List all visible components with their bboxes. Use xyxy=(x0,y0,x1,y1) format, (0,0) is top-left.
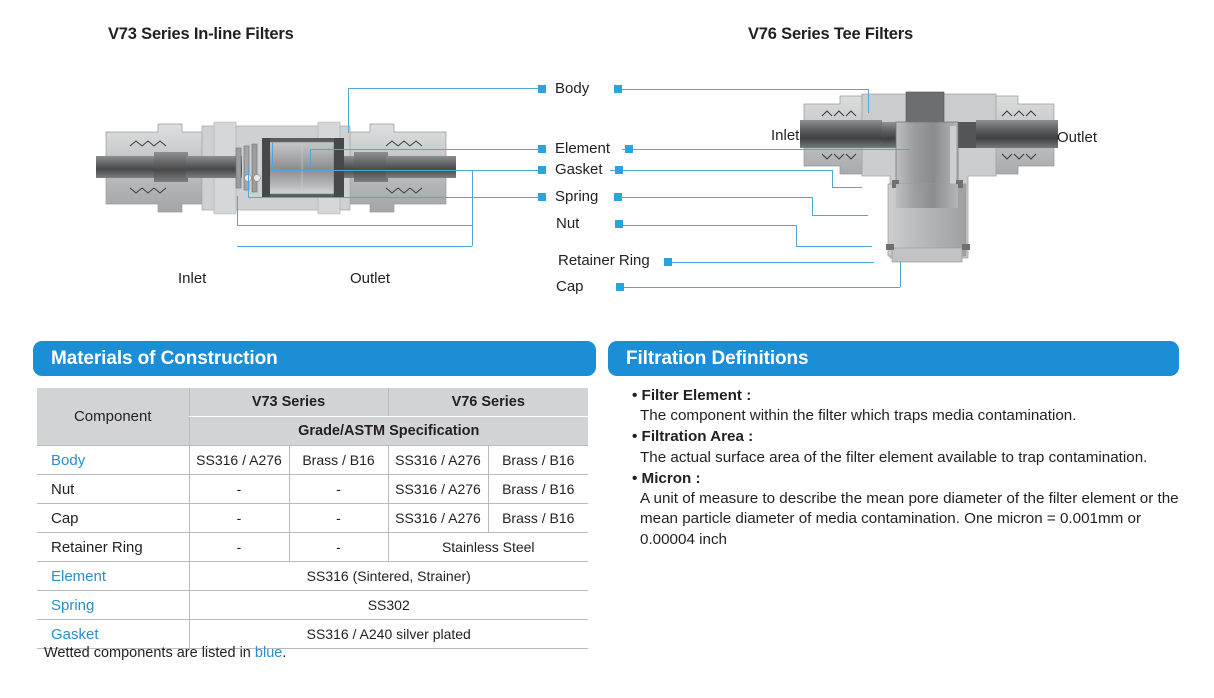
callout-bullet-right-nut-icon xyxy=(615,220,623,228)
row-component-body: Body xyxy=(37,446,189,475)
leader-line-spring-left xyxy=(248,197,538,198)
materials-of-construction-table: Component V73 Series V76 Series Grade/AS… xyxy=(37,388,588,649)
leader-line-cap-right-drop xyxy=(900,262,901,287)
callout-gasket: Gasket xyxy=(538,161,603,179)
leader-line-body-left-drop xyxy=(348,88,349,133)
cell-v76-brass: Brass / B16 xyxy=(488,504,588,533)
cell-all-span: SS316 (Sintered, Strainer) xyxy=(189,562,588,591)
footnote-blue-word: blue xyxy=(255,645,282,661)
row-component-retainer-ring: Retainer Ring xyxy=(37,533,189,562)
callout-spring: Spring xyxy=(538,188,598,206)
leader-line-nut-right-drop xyxy=(796,225,797,246)
leader-line-gasket-right xyxy=(610,170,832,171)
leader-line-gasket-left xyxy=(272,170,538,171)
callout-bullet-right-cap-icon xyxy=(616,283,624,291)
leader-line-cap-right xyxy=(622,287,900,288)
footnote-suffix: . xyxy=(282,645,286,661)
cell-v76-brass: Brass / B16 xyxy=(488,475,588,504)
leader-line-element-left-drop xyxy=(310,149,311,167)
table-header-spec: Grade/ASTM Specification xyxy=(189,417,588,446)
cell-v73-brass: - xyxy=(289,504,388,533)
cell-v76-ss: SS316 / A276 xyxy=(388,446,488,475)
v73-inline-filter-illustration xyxy=(96,108,456,228)
cell-v73-brass: Brass / B16 xyxy=(289,446,388,475)
v76-tee-filter-illustration xyxy=(800,88,1058,278)
table-row: Nut - - SS316 / A276 Brass / B16 xyxy=(37,475,588,504)
cell-v73-ss: - xyxy=(189,504,289,533)
leader-line-gasket-right-drop xyxy=(832,170,833,187)
wetted-components-footnote: Wetted components are listed in blue. xyxy=(44,645,286,661)
datasheet-page: V73 Series In-line Filters V76 Series Te… xyxy=(0,0,1214,698)
table-row: Spring SS302 xyxy=(37,591,588,620)
leader-line-lower-left-a xyxy=(237,225,472,226)
cell-v73-ss: - xyxy=(189,533,289,562)
callout-bullet-right-body-icon xyxy=(614,85,622,93)
callout-element: Element xyxy=(538,140,610,158)
leader-line-body-right-drop xyxy=(868,89,869,113)
callout-bullet-right-retainer-icon xyxy=(664,258,672,266)
callout-bullet-right-gasket-icon xyxy=(615,166,623,174)
definition-micron: • Micron : A unit of measure to describe… xyxy=(632,469,1184,550)
cell-v76-span: Stainless Steel xyxy=(388,533,588,562)
cell-v76-ss: SS316 / A276 xyxy=(388,475,488,504)
definition-body: The actual surface area of the filter el… xyxy=(632,448,1184,468)
callout-bullet-icon xyxy=(538,85,546,93)
definition-term: • Micron : xyxy=(632,469,1184,489)
v73-inlet-label: Inlet xyxy=(178,270,206,287)
cell-v73-ss: SS316 / A276 xyxy=(189,446,289,475)
leader-line-spring-right-b xyxy=(812,215,868,216)
cell-v73-brass: - xyxy=(289,475,388,504)
materials-section-header: Materials of Construction xyxy=(33,341,596,376)
leader-line-body-left xyxy=(348,88,538,89)
v76-inlet-label: Inlet xyxy=(771,127,799,144)
table-row: Retainer Ring - - Stainless Steel xyxy=(37,533,588,562)
leader-line-nut-right xyxy=(616,225,796,226)
definition-filtration-area: • Filtration Area : The actual surface a… xyxy=(632,427,1184,467)
leader-line-lower-left-a-drop xyxy=(237,196,238,225)
table-row: Body SS316 / A276 Brass / B16 SS316 / A2… xyxy=(37,446,588,475)
table-row: Element SS316 (Sintered, Strainer) xyxy=(37,562,588,591)
leader-line-lower-left-c xyxy=(237,246,472,247)
leader-line-gasket-right-b xyxy=(832,187,862,188)
row-component-spring: Spring xyxy=(37,591,189,620)
table-row: Cap - - SS316 / A276 Brass / B16 xyxy=(37,504,588,533)
table-header-component: Component xyxy=(37,388,189,446)
leader-line-nut-right-b xyxy=(796,246,872,247)
definition-term: • Filtration Area : xyxy=(632,427,1184,447)
callout-bullet-right-element-icon xyxy=(625,145,633,153)
definition-body: The component within the filter which tr… xyxy=(632,406,1184,426)
cell-v73-ss: - xyxy=(189,475,289,504)
callout-body: Body xyxy=(538,80,589,98)
cell-v76-brass: Brass / B16 xyxy=(488,446,588,475)
cell-v76-ss: SS316 / A276 xyxy=(388,504,488,533)
leader-line-element-left xyxy=(310,149,538,150)
row-component-cap: Cap xyxy=(37,504,189,533)
callout-cap: Cap xyxy=(556,278,584,296)
callout-retainer-ring: Retainer Ring xyxy=(558,252,650,270)
definition-term: • Filter Element : xyxy=(632,386,1184,406)
callout-bullet-icon xyxy=(538,145,546,153)
v73-diagram-title: V73 Series In-line Filters xyxy=(108,25,294,44)
footnote-prefix: Wetted components are listed in xyxy=(44,645,255,661)
leader-line-gasket-left-drop xyxy=(272,142,273,170)
v73-outlet-label: Outlet xyxy=(350,270,390,287)
callout-bullet-right-spring-icon xyxy=(614,193,622,201)
leader-line-spring-right xyxy=(616,197,812,198)
table-header-row-series: Component V73 Series V76 Series xyxy=(37,388,588,417)
cell-all-span: SS302 xyxy=(189,591,588,620)
callout-bullet-icon xyxy=(538,193,546,201)
leader-line-spring-right-drop xyxy=(812,197,813,215)
leader-line-spring-left-drop xyxy=(248,168,249,197)
definition-body: A unit of measure to describe the mean p… xyxy=(632,489,1184,550)
leader-line-body-right xyxy=(622,89,868,90)
leader-line-element-right xyxy=(622,149,910,150)
filtration-section-header: Filtration Definitions xyxy=(608,341,1179,376)
callout-bullet-icon xyxy=(538,166,546,174)
callout-nut: Nut xyxy=(556,215,579,233)
leader-line-lower-left-c-drop xyxy=(472,197,473,246)
v76-outlet-label: Outlet xyxy=(1057,129,1097,146)
row-component-nut: Nut xyxy=(37,475,189,504)
table-header-v73: V73 Series xyxy=(189,388,388,417)
leader-line-retainer-right xyxy=(668,262,874,263)
v76-diagram-title: V76 Series Tee Filters xyxy=(748,25,913,44)
table-header-v76: V76 Series xyxy=(388,388,588,417)
cell-v73-brass: - xyxy=(289,533,388,562)
row-component-element: Element xyxy=(37,562,189,591)
filtration-definitions-list: • Filter Element : The component within … xyxy=(632,386,1184,551)
definition-filter-element: • Filter Element : The component within … xyxy=(632,386,1184,426)
